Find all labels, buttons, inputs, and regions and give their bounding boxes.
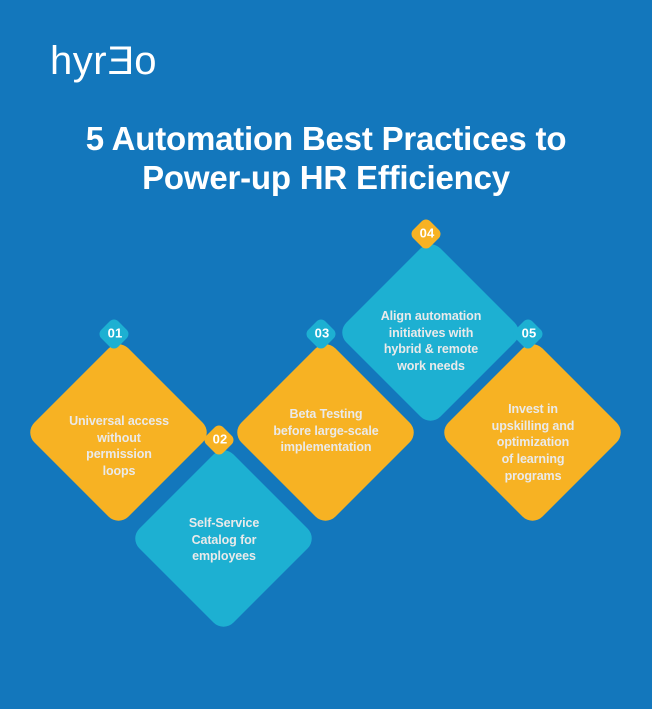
node-05-number: 05 bbox=[506, 325, 552, 340]
node-01-number: 01 bbox=[92, 325, 138, 340]
diagram-node-05[interactable]: Invest in upskilling and optimization of… bbox=[439, 339, 627, 527]
node-05-line-1: Invest in bbox=[447, 401, 619, 418]
node-01-line-1: Universal access bbox=[33, 413, 205, 430]
node-05-line-5: programs bbox=[447, 468, 619, 485]
node-02-line-3: employees bbox=[138, 548, 310, 565]
node-05-line-2: upskilling and bbox=[447, 418, 619, 435]
node-05-line-4: of learning bbox=[447, 451, 619, 468]
node-01-line-2: without bbox=[33, 430, 205, 447]
node-05-line-3: optimization bbox=[447, 434, 619, 451]
node-05-label: Invest in upskilling and optimization of… bbox=[447, 401, 619, 484]
node-04-number: 04 bbox=[404, 225, 450, 240]
node-03-line-3: implementation bbox=[240, 439, 412, 456]
best-practices-diagram: Universal access without permission loop… bbox=[0, 0, 652, 709]
node-02-line-2: Catalog for bbox=[138, 532, 310, 549]
node-04-line-1: Align automation bbox=[345, 308, 517, 325]
